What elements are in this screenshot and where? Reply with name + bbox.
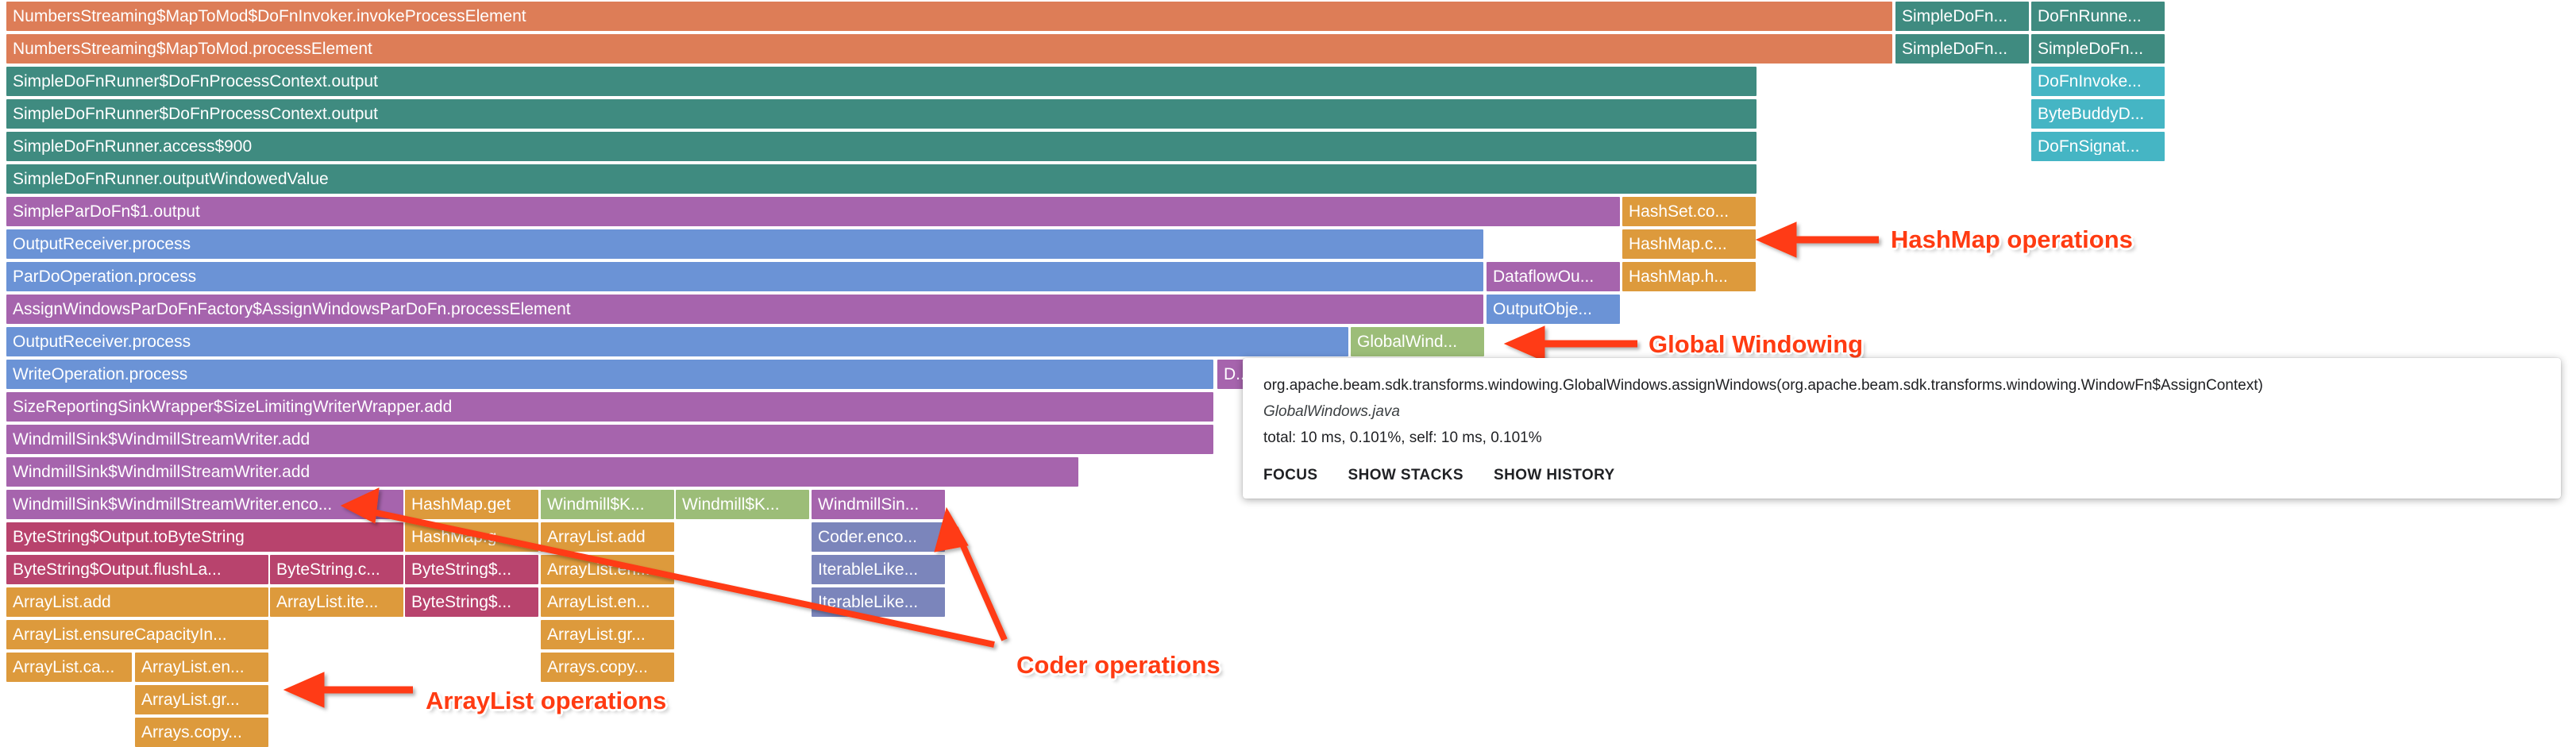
flame-frame[interactable]: Windmill$K... [676, 490, 809, 519]
flame-frame[interactable]: DoFnRunne... [2031, 2, 2165, 31]
flame-frame-label: ByteString.c... [276, 561, 380, 578]
flame-frame-label: GlobalWind... [1357, 333, 1457, 350]
flame-frame-label: ByteBuddyD... [2038, 106, 2144, 122]
flame-frame-label: DoFnRunne... [2038, 8, 2142, 25]
annotation-global-windowing: Global Windowing [1649, 332, 1863, 356]
arrow-arraylist [284, 672, 413, 707]
flame-frame[interactable]: SimpleDoFnRunner$DoFnProcessContext.outp… [6, 99, 1757, 129]
flame-frame-label: DataflowOu... [1493, 268, 1594, 285]
arrow-hashmap [1757, 222, 1879, 257]
flame-frame[interactable]: ByteBuddyD... [2031, 99, 2165, 129]
flame-frame-label: Windmill$K... [547, 496, 645, 513]
annotation-coder: Coder operations [1016, 653, 1221, 677]
flame-frame[interactable]: HashMap.g... [405, 522, 538, 552]
flame-frame[interactable]: SimpleDoFn... [2031, 34, 2165, 64]
flame-frame-label: Arrays.copy... [141, 724, 242, 741]
flame-frame-label: IterableLike... [818, 561, 918, 578]
flame-frame-label: ArrayList.ensureCapacityIn... [13, 626, 227, 643]
flame-frame-label: SimpleDoFn... [1902, 40, 2007, 57]
flame-frame-label: DoFnInvoke... [2038, 73, 2142, 90]
flame-frame[interactable]: Arrays.copy... [135, 718, 268, 747]
flame-frame[interactable]: ArrayList.ensureCapacityIn... [6, 620, 268, 649]
flame-frame-label: ArrayList.ca... [13, 659, 114, 676]
flame-frame-label: WindmillSin... [818, 496, 919, 513]
flame-frame[interactable]: NumbersStreaming$MapToMod.processElement [6, 34, 1892, 64]
flame-frame[interactable]: SimpleParDoFn$1.output [6, 197, 1620, 226]
flame-frame-label: SizeReportingSinkWrapper$SizeLimitingWri… [13, 399, 452, 415]
flame-frame[interactable]: ArrayList.add [541, 522, 674, 552]
frame-detail-tooltip: org.apache.beam.sdk.transforms.windowing… [1243, 358, 2561, 499]
flame-frame[interactable]: ByteString$Output.toByteString [6, 522, 403, 552]
flame-frame[interactable]: ParDoOperation.process [6, 262, 1483, 291]
tooltip-actions: FOCUS SHOW STACKS SHOW HISTORY [1263, 467, 1615, 484]
flame-frame-label: OutputObje... [1493, 301, 1592, 318]
flame-frame-label: Coder.enco... [818, 529, 917, 545]
flame-frame[interactable]: HashMap.c... [1622, 229, 1756, 259]
flame-frame-label: ArrayList.ite... [276, 594, 378, 610]
tooltip-stats: total: 10 ms, 0.101%, self: 10 ms, 0.101… [1263, 429, 2540, 447]
flame-frame[interactable]: NumbersStreaming$MapToMod$DoFnInvoker.in… [6, 2, 1892, 31]
flame-frame-label: Windmill$K... [682, 496, 780, 513]
flame-frame-label: Arrays.copy... [547, 659, 648, 676]
flame-frame[interactable]: IterableLike... [812, 555, 945, 584]
arrow-coder-upper [935, 508, 1005, 640]
flame-frame[interactable]: HashMap.get [405, 490, 538, 519]
flame-frame-label: ByteString$Output.flushLa... [13, 561, 222, 578]
flame-frame[interactable]: ArrayList.ca... [6, 653, 132, 682]
flame-frame-label: HashMap.g... [411, 529, 511, 545]
flame-frame-label: ParDoOperation.process [13, 268, 196, 285]
flame-frame-label: WindmillSink$WindmillStreamWriter.add [13, 431, 310, 448]
flame-frame[interactable]: ArrayList.gr... [135, 685, 268, 714]
flame-frame[interactable]: DoFnInvoke... [2031, 67, 2165, 96]
show-stacks-button[interactable]: SHOW STACKS [1348, 467, 1464, 484]
flame-frame-label: SimpleDoFnRunner.outputWindowedValue [13, 171, 329, 187]
flame-frame-label: NumbersStreaming$MapToMod.processElement [13, 40, 372, 57]
flame-frame[interactable]: ArrayList.en... [541, 587, 674, 617]
flame-frame[interactable]: Windmill$K... [541, 490, 674, 519]
flame-frame-label: SimpleParDoFn$1.output [13, 203, 200, 220]
flame-frame-label: SimpleDoFnRunner.access$900 [13, 138, 252, 155]
flame-frame[interactable]: WindmillSin... [812, 490, 945, 519]
flame-frame[interactable]: DoFnSignat... [2031, 132, 2165, 161]
flame-frame-label: NumbersStreaming$MapToMod$DoFnInvoker.in… [13, 8, 526, 25]
flame-frame[interactable]: OutputReceiver.process [6, 229, 1483, 259]
flame-frame-label: OutputReceiver.process [13, 236, 191, 252]
flame-frame[interactable]: HashMap.h... [1622, 262, 1756, 291]
flame-frame[interactable]: ArrayList.ite... [270, 587, 403, 617]
annotation-arraylist: ArrayList operations [426, 688, 666, 713]
flame-frame-label: WindmillSink$WindmillStreamWriter.add [13, 464, 310, 480]
focus-button[interactable]: FOCUS [1263, 467, 1318, 484]
flame-frame[interactable]: ByteString$... [405, 555, 538, 584]
flame-frame-label: ArrayList.en... [547, 594, 650, 610]
flame-frame[interactable]: ByteString$Output.flushLa... [6, 555, 268, 584]
flame-frame-label: ArrayList.add [547, 529, 646, 545]
show-history-button[interactable]: SHOW HISTORY [1494, 467, 1615, 484]
flame-frame[interactable]: GlobalWind... [1351, 327, 1484, 356]
flame-frame-label: IterableLike... [818, 594, 918, 610]
flame-frame[interactable]: SimpleDoFnRunner.access$900 [6, 132, 1757, 161]
flame-frame-label: DoFnSignat... [2038, 138, 2139, 155]
flame-frame-label: ArrayList.en... [547, 561, 650, 578]
flame-frame-label: SimpleDoFnRunner$DoFnProcessContext.outp… [13, 73, 378, 90]
flame-frame-label: OutputReceiver.process [13, 333, 191, 350]
flame-frame[interactable]: Coder.enco... [812, 522, 945, 552]
flame-frame[interactable]: ArrayList.en... [135, 653, 268, 682]
flame-frame[interactable]: OutputReceiver.process [6, 327, 1348, 356]
flame-frame-label: HashMap.c... [1629, 236, 1727, 252]
arrow-global-windowing [1505, 326, 1637, 361]
flame-frame[interactable]: WindmillSink$WindmillStreamWriter.enco..… [6, 490, 403, 519]
flame-frame-label: HashMap.h... [1629, 268, 1728, 285]
flame-frame[interactable]: Arrays.copy... [541, 653, 674, 682]
flame-frame-label: ArrayList.en... [141, 659, 245, 676]
flame-frame-label: HashMap.get [411, 496, 511, 513]
tooltip-source-file: GlobalWindows.java [1263, 403, 2540, 421]
flame-frame-label: SimpleDoFnRunner$DoFnProcessContext.outp… [13, 106, 378, 122]
flame-frame[interactable]: WriteOperation.process [6, 360, 1213, 389]
flame-frame[interactable]: AssignWindowsParDoFnFactory$AssignWindow… [6, 295, 1483, 324]
annotation-hashmap: HashMap operations [1891, 227, 2133, 252]
flame-frame[interactable]: SimpleDoFn... [1895, 34, 2029, 64]
flame-frame[interactable]: ByteString.c... [270, 555, 403, 584]
flame-frame[interactable]: SimpleDoFnRunner.outputWindowedValue [6, 164, 1757, 194]
flame-frame[interactable]: WindmillSink$WindmillStreamWriter.add [6, 457, 1078, 487]
flame-frame[interactable]: ArrayList.add [6, 587, 268, 617]
flame-frame-label: ByteString$... [411, 561, 511, 578]
flame-frame-label: WriteOperation.process [13, 366, 187, 383]
flame-frame-label: ArrayList.add [13, 594, 111, 610]
flame-frame-label: ArrayList.gr... [141, 691, 240, 708]
flame-frame-label: ArrayList.gr... [547, 626, 646, 643]
flame-frame[interactable]: SizeReportingSinkWrapper$SizeLimitingWri… [6, 392, 1213, 422]
flame-frame[interactable]: HashSet.co... [1622, 197, 1756, 226]
flame-frame-label: HashSet.co... [1629, 203, 1729, 220]
flame-frame[interactable]: SimpleDoFnRunner$DoFnProcessContext.outp… [6, 67, 1757, 96]
flame-frame-label: SimpleDoFn... [2038, 40, 2143, 57]
flame-frame[interactable]: ArrayList.gr... [541, 620, 674, 649]
flame-frame-label: SimpleDoFn... [1902, 8, 2007, 25]
flame-frame[interactable]: OutputObje... [1487, 295, 1620, 324]
flame-graph-canvas: NumbersStreaming$MapToMod$DoFnInvoker.in… [0, 0, 2576, 730]
flame-frame-label: WindmillSink$WindmillStreamWriter.enco..… [13, 496, 332, 513]
flame-frame-label: ByteString$... [411, 594, 511, 610]
flame-frame[interactable]: ByteString$... [405, 587, 538, 617]
flame-frame[interactable]: WindmillSink$WindmillStreamWriter.add [6, 425, 1213, 454]
flame-frame[interactable]: DataflowOu... [1487, 262, 1620, 291]
flame-frame[interactable]: SimpleDoFn... [1895, 2, 2029, 31]
flame-frame[interactable]: ArrayList.en... [541, 555, 674, 584]
flame-frame-label: AssignWindowsParDoFnFactory$AssignWindow… [13, 301, 571, 318]
tooltip-signature: org.apache.beam.sdk.transforms.windowing… [1263, 375, 2540, 396]
flame-frame-label: ByteString$Output.toByteString [13, 529, 245, 545]
flame-frame[interactable]: IterableLike... [812, 587, 945, 617]
